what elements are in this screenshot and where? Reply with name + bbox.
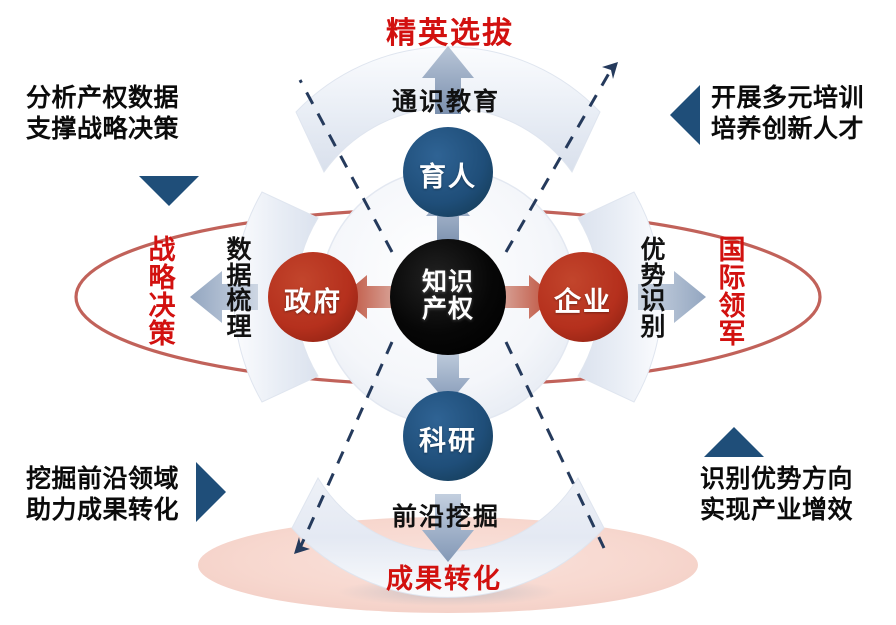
outcome-left-char-1: 战 (146, 237, 178, 265)
callout-top-right: 开展多元培训 培养创新人才 (711, 83, 864, 144)
dashed-arrowhead-ne (602, 62, 618, 79)
outcome-right-char-1: 国 (716, 237, 748, 265)
callout-arrow-top-left (139, 176, 199, 206)
callout-bottom-right-line1: 识别优势方向 (700, 464, 853, 495)
outcome-label-top: 精英选拔 (386, 8, 514, 52)
band-right-char-1: 优 (638, 237, 668, 263)
core-label-line2: 产权 (398, 296, 498, 323)
outcome-label-bottom: 成果转化 (386, 557, 502, 596)
band-left-char-3: 梳 (224, 288, 254, 314)
band-left-char-2: 据 (224, 263, 254, 289)
node-label-bottom[interactable]: 科研 (398, 419, 498, 458)
outcome-label-right: 国 际 领 军 (716, 237, 748, 349)
callout-arrow-bottom-left (196, 462, 226, 522)
callout-top-left-line2: 支撑战略决策 (26, 114, 179, 145)
callout-top-left-line1: 分析产权数据 (26, 83, 179, 114)
band-right-char-4: 别 (638, 314, 668, 340)
callout-top-left: 分析产权数据 支撑战略决策 (26, 83, 179, 144)
outcome-left-char-4: 策 (146, 321, 178, 349)
node-label-left[interactable]: 政府 (263, 280, 363, 319)
outcome-right-char-3: 领 (716, 293, 748, 321)
callout-arrow-top-right (670, 85, 700, 145)
node-label-right[interactable]: 企业 (533, 280, 633, 319)
outcome-left-char-2: 略 (146, 265, 178, 293)
band-label-right: 优 势 识 别 (638, 237, 668, 339)
outcome-right-char-4: 军 (716, 321, 748, 349)
outcome-left-char-3: 决 (146, 293, 178, 321)
core-label-line1: 知识 (398, 269, 498, 296)
band-label-left: 数 据 梳 理 (224, 237, 254, 339)
callout-bottom-left-line2: 助力成果转化 (26, 495, 179, 526)
callout-bottom-left-line1: 挖掘前沿领域 (26, 464, 179, 495)
callout-top-right-line2: 培养创新人才 (711, 114, 864, 145)
diagram-canvas: 精英选拔 成果转化 战 略 决 策 国 际 领 军 通识教育 前沿挖掘 数 据 … (0, 0, 896, 625)
callout-arrow-bottom-right (704, 427, 764, 457)
outcome-label-left: 战 略 决 策 (146, 237, 178, 349)
core-label[interactable]: 知识 产权 (398, 269, 498, 322)
callout-top-right-line1: 开展多元培训 (711, 83, 864, 114)
callout-bottom-right-line2: 实现产业增效 (700, 495, 853, 526)
band-label-bottom: 前沿挖掘 (392, 497, 500, 533)
callout-bottom-right: 识别优势方向 实现产业增效 (700, 464, 853, 525)
callout-bottom-left: 挖掘前沿领域 助力成果转化 (26, 464, 179, 525)
band-right-char-3: 识 (638, 288, 668, 314)
band-left-char-4: 理 (224, 314, 254, 340)
node-label-top[interactable]: 育人 (398, 155, 498, 194)
outcome-right-char-2: 际 (716, 265, 748, 293)
band-left-char-1: 数 (224, 237, 254, 263)
band-label-top: 通识教育 (392, 82, 500, 118)
band-right-char-2: 势 (638, 263, 668, 289)
